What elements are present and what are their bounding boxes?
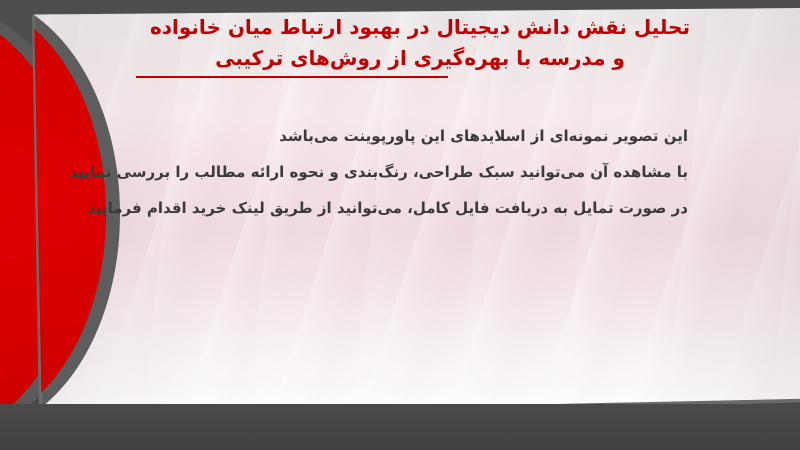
slide-body-line-1: این تصویر نمونه‌ای از اسلایدهای این پاور… — [103, 118, 688, 154]
slide-body-line-3: در صورت تمایل به دریافت فایل کامل، می‌تو… — [103, 190, 688, 226]
slide-title: تحلیل نقش دانش دیجیتال در بهبود ارتباط م… — [120, 12, 720, 74]
bottom-dark-band — [0, 404, 800, 450]
slide-body-text: این تصویر نمونه‌ای از اسلایدهای این پاور… — [103, 118, 688, 226]
slide-title-line-2: و مدرسه با بهره‌گیری از روش‌های ترکیبی — [120, 43, 720, 74]
presentation-slide: تحلیل نقش دانش دیجیتال در بهبود ارتباط م… — [0, 0, 800, 450]
title-underline-rule — [136, 76, 448, 78]
slide-title-line-1: تحلیل نقش دانش دیجیتال در بهبود ارتباط م… — [120, 12, 720, 43]
slide-body-line-2: با مشاهده آن می‌توانید سبک طراحی، رنگ‌بن… — [103, 154, 688, 190]
